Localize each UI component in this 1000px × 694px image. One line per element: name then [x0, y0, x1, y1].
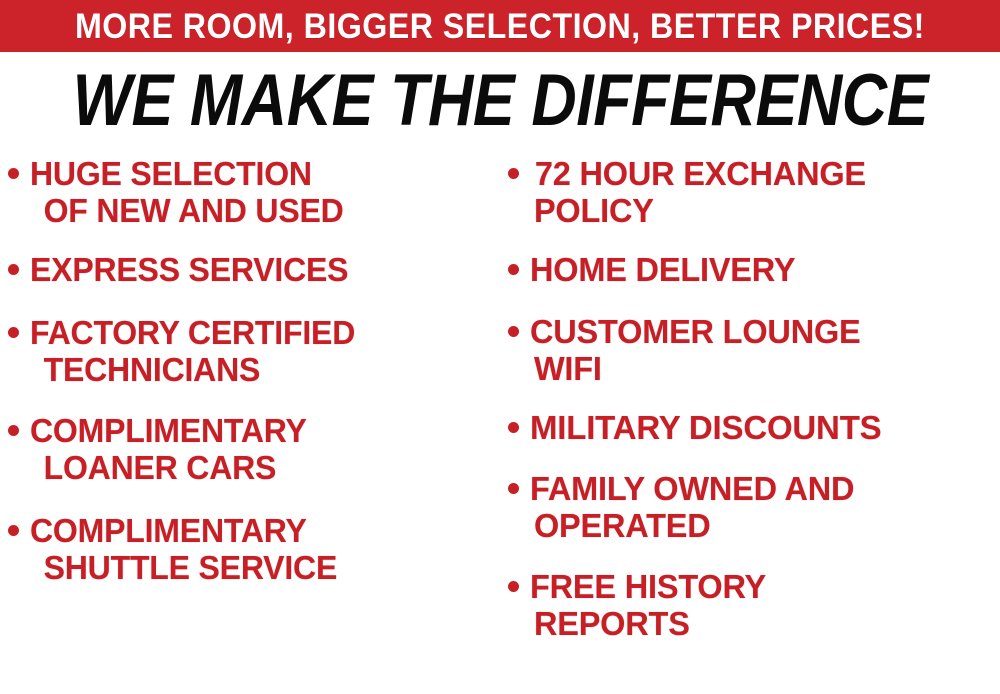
benefits-column-left: HUGE SELECTION OF NEW AND USED EXPRESS S… — [8, 155, 504, 694]
list-item: 72 HOUR EXCHANGE POLICY — [508, 155, 1000, 229]
list-item-line: FAMILY OWNED AND — [530, 470, 993, 507]
list-item-text: FACTORY CERTIFIED TECHNICIANS — [30, 314, 504, 388]
list-item-line: OF NEW AND USED — [30, 192, 490, 229]
list-item-line: HOME DELIVERY — [530, 251, 993, 288]
list-item-text: CUSTOMER LOUNGE WIFI — [530, 313, 1000, 387]
bullet-dot-icon — [508, 422, 519, 433]
list-item-line: MILITARY DISCOUNTS — [530, 409, 1000, 446]
list-item-text: 72 HOUR EXCHANGE POLICY — [530, 155, 1000, 229]
top-banner: MORE ROOM, BIGGER SELECTION, BETTER PRIC… — [0, 0, 1000, 52]
list-item-text: FREE HISTORY REPORTS — [530, 568, 1000, 642]
list-item: HUGE SELECTION OF NEW AND USED — [8, 155, 504, 229]
list-item-line: TECHNICIANS — [30, 351, 490, 388]
list-item: EXPRESS SERVICES — [8, 251, 504, 288]
bullet-dot-icon — [508, 326, 519, 337]
list-item-line: SHUTTLE SERVICE — [30, 549, 490, 586]
list-item-text: EXPRESS SERVICES — [30, 251, 504, 288]
list-item: FACTORY CERTIFIED TECHNICIANS — [8, 314, 504, 388]
list-item: COMPLIMENTARY SHUTTLE SERVICE — [8, 512, 504, 586]
list-item-line: POLICY — [530, 192, 993, 229]
list-item-line: EXPRESS SERVICES — [30, 251, 490, 288]
list-item-line: FACTORY CERTIFIED — [30, 314, 490, 351]
list-item-text: COMPLIMENTARY LOANER CARS — [30, 412, 504, 486]
bullet-dot-icon — [508, 483, 519, 494]
list-item-text: COMPLIMENTARY SHUTTLE SERVICE — [30, 512, 504, 586]
list-item: COMPLIMENTARY LOANER CARS — [8, 412, 504, 486]
list-item-line: COMPLIMENTARY — [30, 412, 490, 449]
bullet-dot-icon — [8, 168, 19, 179]
bullet-dot-icon — [8, 525, 19, 536]
bullet-dot-icon — [508, 168, 519, 179]
list-item: HOME DELIVERY — [508, 251, 1000, 288]
main-headline-text: WE MAKE THE DIFFERENCE — [72, 62, 928, 140]
bullet-dot-icon — [508, 264, 519, 275]
list-item-line: CUSTOMER LOUNGE — [530, 313, 993, 350]
list-item-line: OPERATED — [530, 507, 993, 544]
list-item-line: LOANER CARS — [30, 449, 490, 486]
main-headline: WE MAKE THE DIFFERENCE — [0, 62, 1000, 140]
list-item-text: HOME DELIVERY — [530, 251, 1000, 288]
list-item: FAMILY OWNED AND OPERATED — [508, 470, 1000, 544]
list-item-line: COMPLIMENTARY — [30, 512, 490, 549]
list-item: CUSTOMER LOUNGE WIFI — [508, 313, 1000, 387]
banner-headline-text: MORE ROOM, BIGGER SELECTION, BETTER PRIC… — [75, 9, 925, 44]
bullet-dot-icon — [8, 327, 19, 338]
benefits-columns: HUGE SELECTION OF NEW AND USED EXPRESS S… — [0, 155, 1000, 694]
list-item-text: HUGE SELECTION OF NEW AND USED — [30, 155, 504, 229]
list-item-line: HUGE SELECTION — [30, 155, 490, 192]
list-item-line: WIFI — [530, 350, 993, 387]
list-item: MILITARY DISCOUNTS — [508, 409, 1000, 446]
list-item-line: 72 HOUR EXCHANGE — [530, 155, 993, 192]
bullet-dot-icon — [8, 425, 19, 436]
bullet-dot-icon — [508, 581, 519, 592]
list-item: FREE HISTORY REPORTS — [508, 568, 1000, 642]
list-item-text: FAMILY OWNED AND OPERATED — [530, 470, 1000, 544]
list-item-text: MILITARY DISCOUNTS — [530, 409, 1000, 446]
list-item-line: FREE HISTORY — [530, 568, 993, 605]
bullet-dot-icon — [8, 264, 19, 275]
promo-poster: MORE ROOM, BIGGER SELECTION, BETTER PRIC… — [0, 0, 1000, 694]
benefits-column-right: 72 HOUR EXCHANGE POLICY HOME DELIVERY CU… — [508, 155, 1000, 694]
list-item-line: REPORTS — [530, 605, 993, 642]
